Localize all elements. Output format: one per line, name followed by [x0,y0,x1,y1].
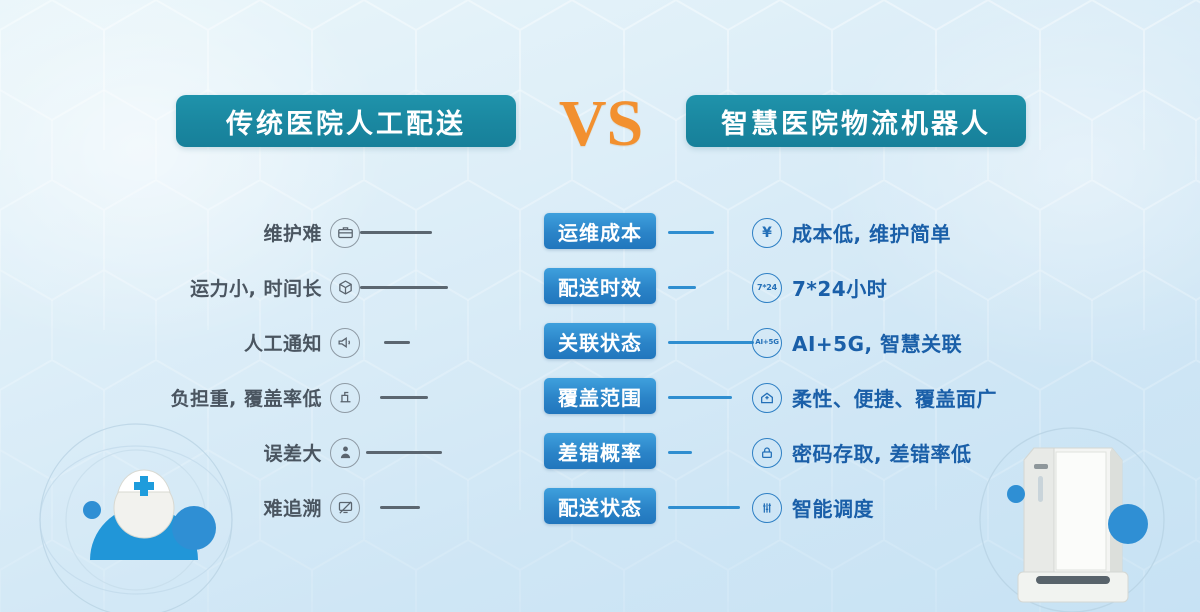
left-label: 维护难 [263,219,322,246]
toolbox-icon [330,218,360,248]
left-label: 人工通知 [244,329,322,356]
connector-left [380,396,428,399]
hospital-building-icon [752,383,782,413]
center-pill: 差错概率 [544,433,656,469]
right-cell: 智能调度 [752,480,874,535]
right-label: 智能调度 [792,493,874,522]
right-cell: 7*24 7*24小时 [752,260,887,315]
right-label: 7*24小时 [792,273,887,302]
right-cell: ¥ 成本低, 维护简单 [752,205,951,260]
left-cell: 运力小, 时间长 [190,260,360,315]
ai5g-glyph: AI+5G [755,339,779,346]
left-label: 运力小, 时间长 [190,274,322,301]
no-tracking-monitor-icon [330,493,360,523]
left-label: 难追溯 [263,494,322,521]
megaphone-icon [330,328,360,358]
comparison-row: 人工通知 关联状态 AI+5G AI+5G, 智慧关联 [0,315,1200,370]
comparison-row: 维护难 运维成本 ¥ 成本低, 维护简单 [0,205,1200,260]
right-label: AI+5G, 智慧关联 [792,328,962,357]
left-label: 负担重, 覆盖率低 [171,384,322,411]
center-pill: 运维成本 [544,213,656,249]
comparison-row: 负担重, 覆盖率低 覆盖范围 柔性、便捷、覆盖面广 [0,370,1200,425]
connector-right [668,396,732,399]
right-label: 成本低, 维护简单 [792,218,951,247]
connector-left [380,506,420,509]
infographic-canvas: 传统医院人工配送 VS 智慧医院物流机器人 维护难 运维成本 [0,0,1200,612]
clock-7x24-icon: 7*24 [752,273,782,303]
comparison-row: 难追溯 配送状态 智 [0,480,1200,535]
header-pill-traditional: 传统医院人工配送 [176,95,516,147]
comparison-row: 误差大 差错概率 密 [0,425,1200,480]
left-cell: 负担重, 覆盖率低 [171,370,360,425]
connector-right [668,286,696,289]
header-left-title: 传统医院人工配送 [226,102,466,141]
center-label: 配送状态 [558,492,642,521]
left-cell: 人工通知 [244,315,360,370]
right-label: 密码存取, 差错率低 [792,438,972,467]
center-label: 关联状态 [558,327,642,356]
header-pill-smart: 智慧医院物流机器人 [686,95,1026,147]
comparison-row: 运力小, 时间长 配送时效 7*24 7*24小时 [0,260,1200,315]
yuan-glyph: ¥ [762,226,772,240]
left-cell: 维护难 [263,205,360,260]
right-cell: AI+5G AI+5G, 智慧关联 [752,315,962,370]
comparison-rows: 维护难 运维成本 ¥ 成本低, 维护简单 [0,205,1200,535]
sliders-schedule-icon [752,493,782,523]
connector-right [668,451,692,454]
hand-cart-icon [330,383,360,413]
connector-right [668,231,714,234]
center-label: 覆盖范围 [558,382,642,411]
right-cell: 柔性、便捷、覆盖面广 [752,370,997,425]
center-pill: 关联状态 [544,323,656,359]
center-label: 配送时效 [558,272,642,301]
center-label: 运维成本 [558,217,642,246]
left-cell: 难追溯 [263,480,360,535]
center-pill: 覆盖范围 [544,378,656,414]
yuan-currency-icon: ¥ [752,218,782,248]
center-pill: 配送状态 [544,488,656,524]
center-label: 差错概率 [558,437,642,466]
right-label: 柔性、便捷、覆盖面广 [792,383,997,412]
vs-label: VS [548,89,654,159]
left-cell: 误差大 [263,425,360,480]
connector-left [360,286,448,289]
package-box-icon [330,273,360,303]
connector-right [668,506,740,509]
header-right-title: 智慧医院物流机器人 [721,102,991,141]
right-cell: 密码存取, 差错率低 [752,425,972,480]
password-lock-icon [752,438,782,468]
ai-5g-icon: AI+5G [752,328,782,358]
connector-right [668,341,754,344]
left-label: 误差大 [263,439,322,466]
person-error-icon [330,438,360,468]
center-pill: 配送时效 [544,268,656,304]
connector-left [360,231,432,234]
connector-left [384,341,410,344]
header: 传统医院人工配送 VS 智慧医院物流机器人 [0,95,1200,147]
clock-glyph: 7*24 [757,284,777,292]
connector-left [366,451,442,454]
